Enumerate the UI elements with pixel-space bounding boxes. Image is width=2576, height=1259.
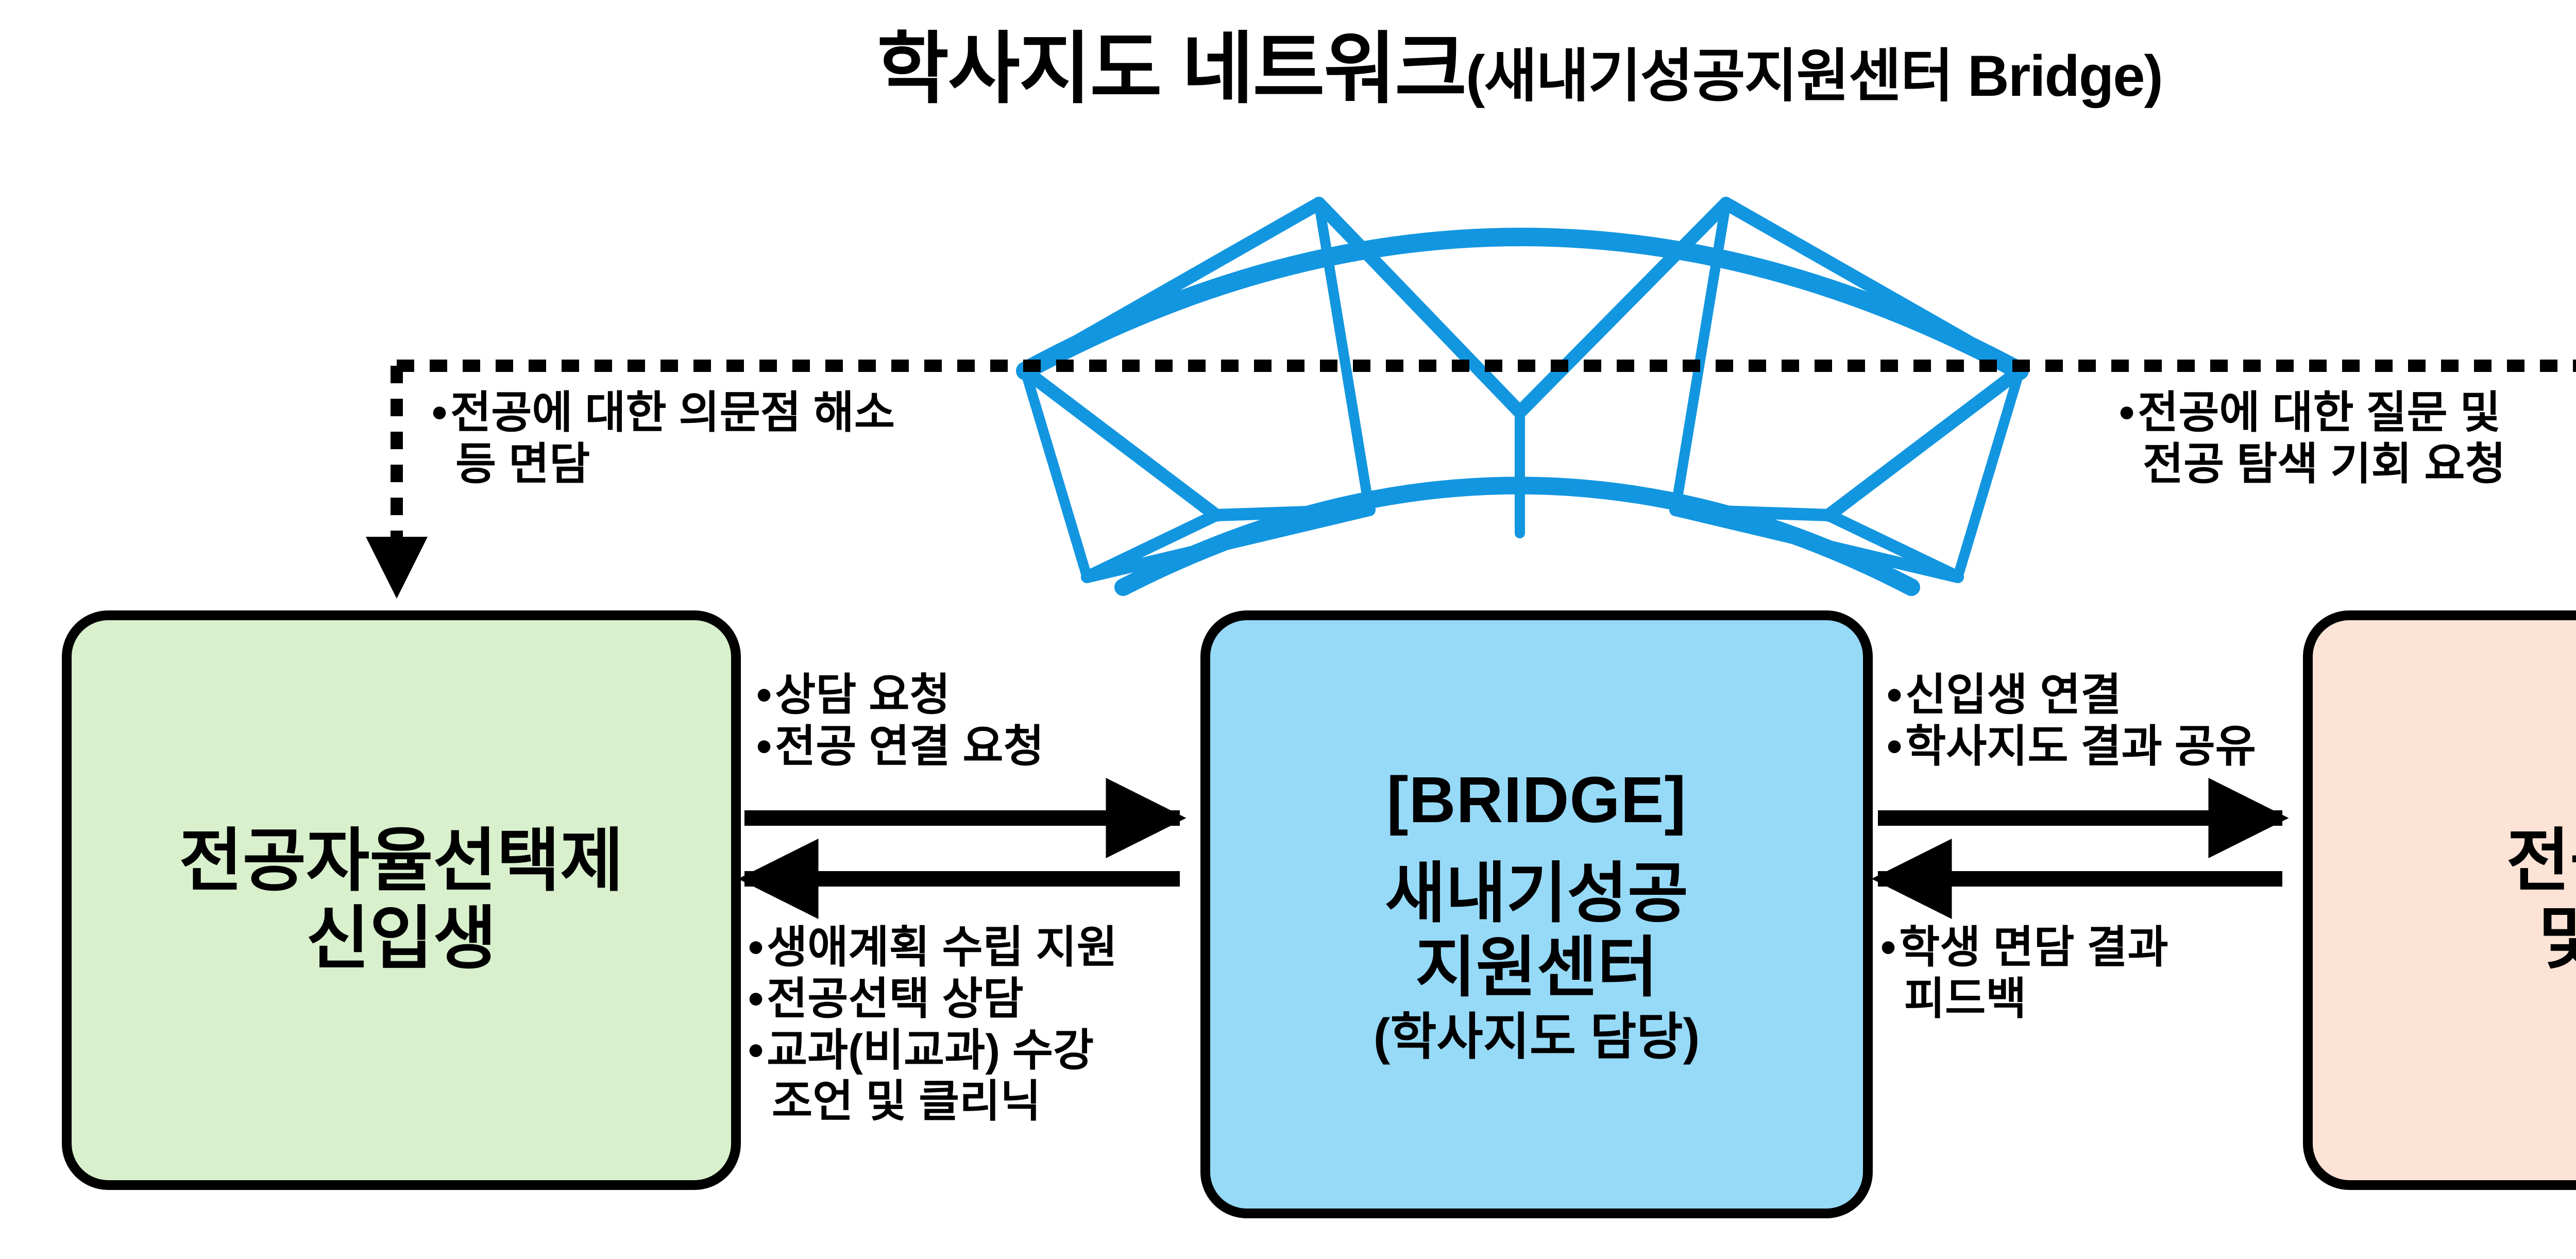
edge-label-line: 전공 탐색 기회 요청 (2119, 439, 2506, 490)
edge-label-line: 생애계획 수립 지원 (748, 922, 1117, 974)
node-professor-line2: 및 선배 (2538, 900, 2576, 978)
node-bridge-title: [BRIDGE] (1387, 763, 1687, 836)
node-box-student[interactable]: 전공자율선택제 신입생 (62, 610, 741, 1190)
edge-label-line: 전공에 대한 질문 및 (2119, 387, 2506, 439)
diagram-canvas: 학사지도 네트워크(새내기성공지원센터 Bridge) (0, 0, 2576, 1259)
page-title-main: 학사지도 네트워크 (877, 25, 1466, 113)
edge-label-line: 전공선택 상담 (748, 974, 1117, 1025)
edge-label-student-to-professor: 전공에 대한 의문점 해소 등 면담 (432, 387, 895, 490)
node-bridge-line3: 지원센터 (1415, 931, 1658, 1005)
edge-label-line: 신입생 연결 (1887, 670, 2256, 721)
edge-label-student-to-bridge: 상담 요청 전공 연결 요청 (756, 670, 1044, 773)
edge-label-line: 전공 연결 요청 (756, 721, 1044, 773)
node-bridge-line2: 새내기성공 (1385, 857, 1688, 930)
node-box-bridge[interactable]: [BRIDGE] 새내기성공 지원센터 (학사지도 담당) (1200, 610, 1873, 1218)
edge-label-line: 학생 면담 결과 (1880, 922, 2168, 974)
edge-label-professor-to-student: 전공에 대한 질문 및 전공 탐색 기회 요청 (2119, 387, 2506, 490)
edge-label-line: 교과(비교과) 수강 (748, 1025, 1117, 1077)
node-student-line1: 전공자율선택제 (179, 823, 624, 900)
edge-label-line: 피드백 (1880, 974, 2168, 1025)
page-title: 학사지도 네트워크(새내기성공지원센터 Bridge) (0, 5, 2576, 118)
node-bridge-note: (학사지도 담당) (1374, 1009, 1700, 1065)
node-student-line2: 신입생 (306, 900, 497, 978)
edge-label-line: 학사지도 결과 공유 (1887, 721, 2256, 773)
edge-label-bridge-to-student: 생애계획 수립 지원 전공선택 상담 교과(비교과) 수강 조언 및 클리닉 (748, 922, 1117, 1128)
edge-label-line: 전공에 대한 의문점 해소 (432, 387, 895, 439)
edge-label-line: 상담 요청 (756, 670, 1044, 721)
edge-label-professor-to-bridge: 학생 면담 결과 피드백 (1880, 922, 2168, 1025)
edge-label-line: 조언 및 클리닉 (748, 1076, 1117, 1128)
edge-label-bridge-to-professor: 신입생 연결 학사지도 결과 공유 (1887, 670, 2256, 773)
node-box-professor[interactable]: 전공 교수 및 선배 (2303, 610, 2576, 1190)
edge-label-line: 등 면담 (432, 439, 895, 490)
node-professor-line1: 전공 교수 (2506, 823, 2576, 900)
page-title-sub: (새내기성공지원센터 Bridge) (1466, 44, 2162, 108)
bridge-truss-icon (1025, 203, 2020, 587)
